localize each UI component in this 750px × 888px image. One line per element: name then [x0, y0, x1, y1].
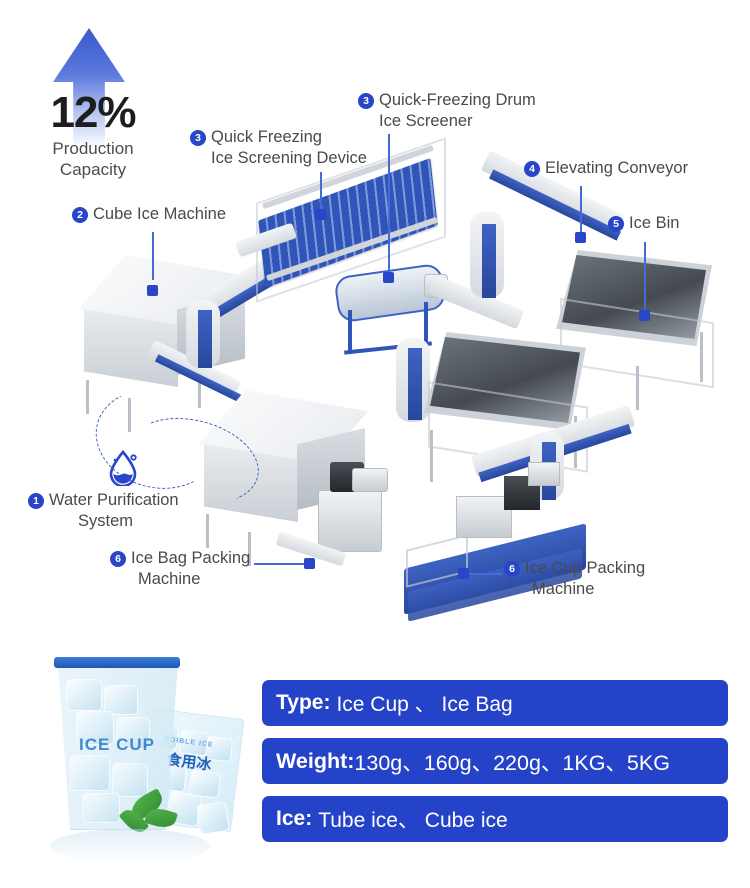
callout-ice-bag-packing-machine[interactable]: 6Ice Bag Packing Machine: [110, 548, 250, 590]
leader-dot: [575, 232, 586, 243]
callout-label-line1: Quick-Freezing Drum: [379, 91, 536, 109]
spec-row-weight: Weight: 130g、160g、220g、1KG、5KG: [262, 738, 728, 784]
callout-number-badge: 5: [608, 216, 624, 232]
callout-ice-cup-packing-machine[interactable]: 6Ice Cup Packing Machine: [504, 558, 645, 600]
callout-label-line1: Water Purification: [49, 491, 179, 509]
spec-value: Tube ice、 Cube ice: [318, 804, 507, 834]
leader-dot: [458, 568, 469, 579]
ice-cup-lid: [54, 657, 180, 668]
leader-line: [388, 134, 390, 274]
leader-line: [320, 172, 322, 212]
product-reflection: [50, 829, 210, 863]
water-drop-icon: [106, 448, 140, 491]
callout-label-line1: Ice Bag Packing: [131, 549, 250, 567]
ice-cup-label: ICE CUP: [64, 735, 170, 755]
callout-label-line1: Ice Bin: [629, 214, 679, 232]
spec-key: Weight:: [276, 749, 354, 774]
callout-number-badge: 6: [110, 551, 126, 567]
leader-dot: [304, 558, 315, 569]
kpi-value: 12%: [18, 90, 168, 136]
callout-label-line2: Machine: [532, 579, 645, 600]
callout-quick-freezing-drum-screener[interactable]: 3Quick-Freezing Drum Ice Screener: [358, 90, 536, 132]
callout-label-line2: Ice Screening Device: [211, 148, 367, 169]
spec-value: 130g、160g、220g、1KG、5KG: [354, 746, 670, 777]
leader-dot: [383, 272, 394, 283]
callout-number-badge: 3: [358, 93, 374, 109]
callout-label-line1: Quick Freezing: [211, 128, 322, 146]
callout-number-badge: 3: [190, 130, 206, 146]
callout-water-purification-system[interactable]: 1Water Purification System: [28, 490, 179, 532]
leader-dot: [639, 310, 650, 321]
callout-quick-freezing-screening-device[interactable]: 3Quick Freezing Ice Screening Device: [190, 127, 367, 169]
page-root: 12% Production Capacity: [0, 0, 750, 888]
spec-key: Type:: [276, 691, 330, 715]
callout-label-line1: Ice Cup Packing: [525, 559, 645, 577]
callout-number-badge: 2: [72, 207, 88, 223]
leader-line: [152, 232, 154, 280]
leader-dot: [315, 209, 326, 220]
callout-elevating-conveyor[interactable]: 4Elevating Conveyor: [524, 158, 688, 179]
leader-line: [580, 186, 582, 234]
callout-cube-ice-machine[interactable]: 2Cube Ice Machine: [72, 204, 226, 225]
callout-label-line1: Cube Ice Machine: [93, 205, 226, 223]
spec-key: Ice:: [276, 807, 312, 831]
spec-table: Type: Ice Cup 、 Ice Bag Weight: 130g、160…: [262, 680, 728, 854]
callout-label-line2: System: [78, 511, 179, 532]
callout-number-badge: 4: [524, 161, 540, 177]
leader-line: [468, 573, 502, 575]
callout-label-line1: Elevating Conveyor: [545, 159, 688, 177]
callout-ice-bin[interactable]: 5Ice Bin: [608, 213, 679, 234]
callout-number-badge: 6: [504, 561, 520, 577]
spec-row-type: Type: Ice Cup 、 Ice Bag: [262, 680, 728, 726]
leader-line: [644, 242, 646, 312]
spec-value: Ice Cup 、 Ice Bag: [336, 688, 512, 718]
leader-dot: [147, 285, 158, 296]
spec-row-ice: Ice: Tube ice、 Cube ice: [262, 796, 728, 842]
callout-label-line2: Machine: [138, 569, 250, 590]
callout-label-line2: Ice Screener: [379, 111, 536, 132]
product-photo: EDIBLE ICE 食用冰 ICE CUP: [20, 645, 250, 875]
callout-number-badge: 1: [28, 493, 44, 509]
leader-line: [254, 563, 306, 565]
ice-bag-packing-machine-graphic: [318, 490, 382, 552]
